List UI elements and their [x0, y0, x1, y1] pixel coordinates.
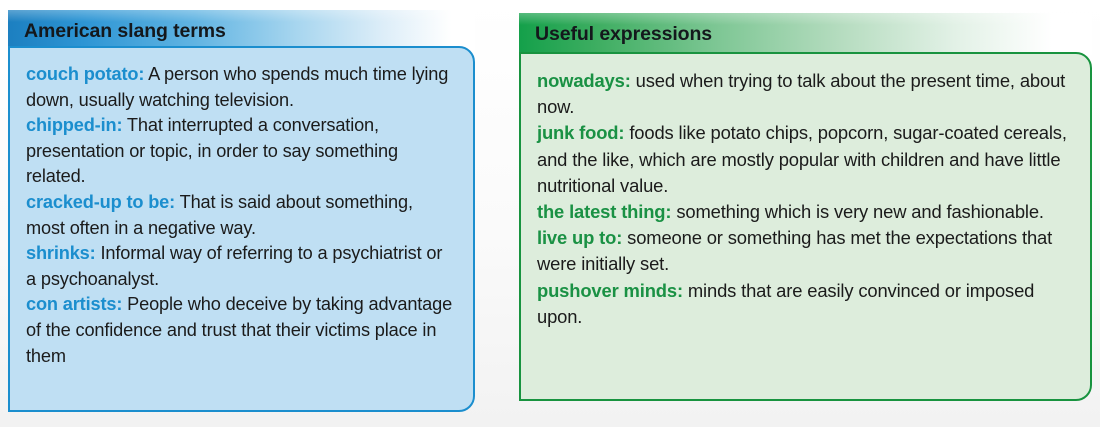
glossary-term: live up to: [537, 227, 622, 248]
panel-useful-expressions: Useful expressions nowadays: used when t… [519, 13, 1092, 401]
glossary-term: junk food: [537, 122, 624, 143]
glossary-entry: couch potato: A person who spends much t… [26, 62, 455, 113]
panel-body-useful-expressions: nowadays: used when trying to talk about… [519, 52, 1092, 401]
glossary-entry: junk food: foods like potato chips, popc… [537, 120, 1072, 199]
glossary-entry: chipped-in: That interrupted a conversat… [26, 113, 455, 190]
panel-title-useful-expressions: Useful expressions [519, 13, 1092, 55]
glossary-term: pushover minds: [537, 280, 683, 301]
glossary-entry: pushover minds: minds that are easily co… [537, 278, 1072, 330]
glossary-term: the latest thing: [537, 201, 671, 222]
glossary-entry: con artists: People who deceive by takin… [26, 292, 455, 369]
glossary-term: chipped-in: [26, 115, 122, 135]
glossary-definition: something which is very new and fashiona… [671, 201, 1044, 222]
glossary-term: con artists: [26, 294, 122, 314]
glossary-entry: cracked-up to be: That is said about som… [26, 190, 455, 241]
panel-body-american-slang-terms: couch potato: A person who spends much t… [8, 46, 475, 412]
glossary-term: nowadays: [537, 70, 631, 91]
glossary-term: cracked-up to be: [26, 192, 175, 212]
glossary-entry: nowadays: used when trying to talk about… [537, 68, 1072, 120]
glossary-term: couch potato: [26, 64, 144, 84]
glossary-entry: live up to: someone or something has met… [537, 225, 1072, 277]
slide-canvas: American slang terms couch potato: A per… [0, 0, 1100, 427]
glossary-entry: shrinks: Informal way of referring to a … [26, 241, 455, 292]
glossary-entry: the latest thing: something which is ver… [537, 199, 1072, 225]
panel-american-slang-terms: American slang terms couch potato: A per… [8, 10, 475, 412]
glossary-term: shrinks: [26, 243, 96, 263]
